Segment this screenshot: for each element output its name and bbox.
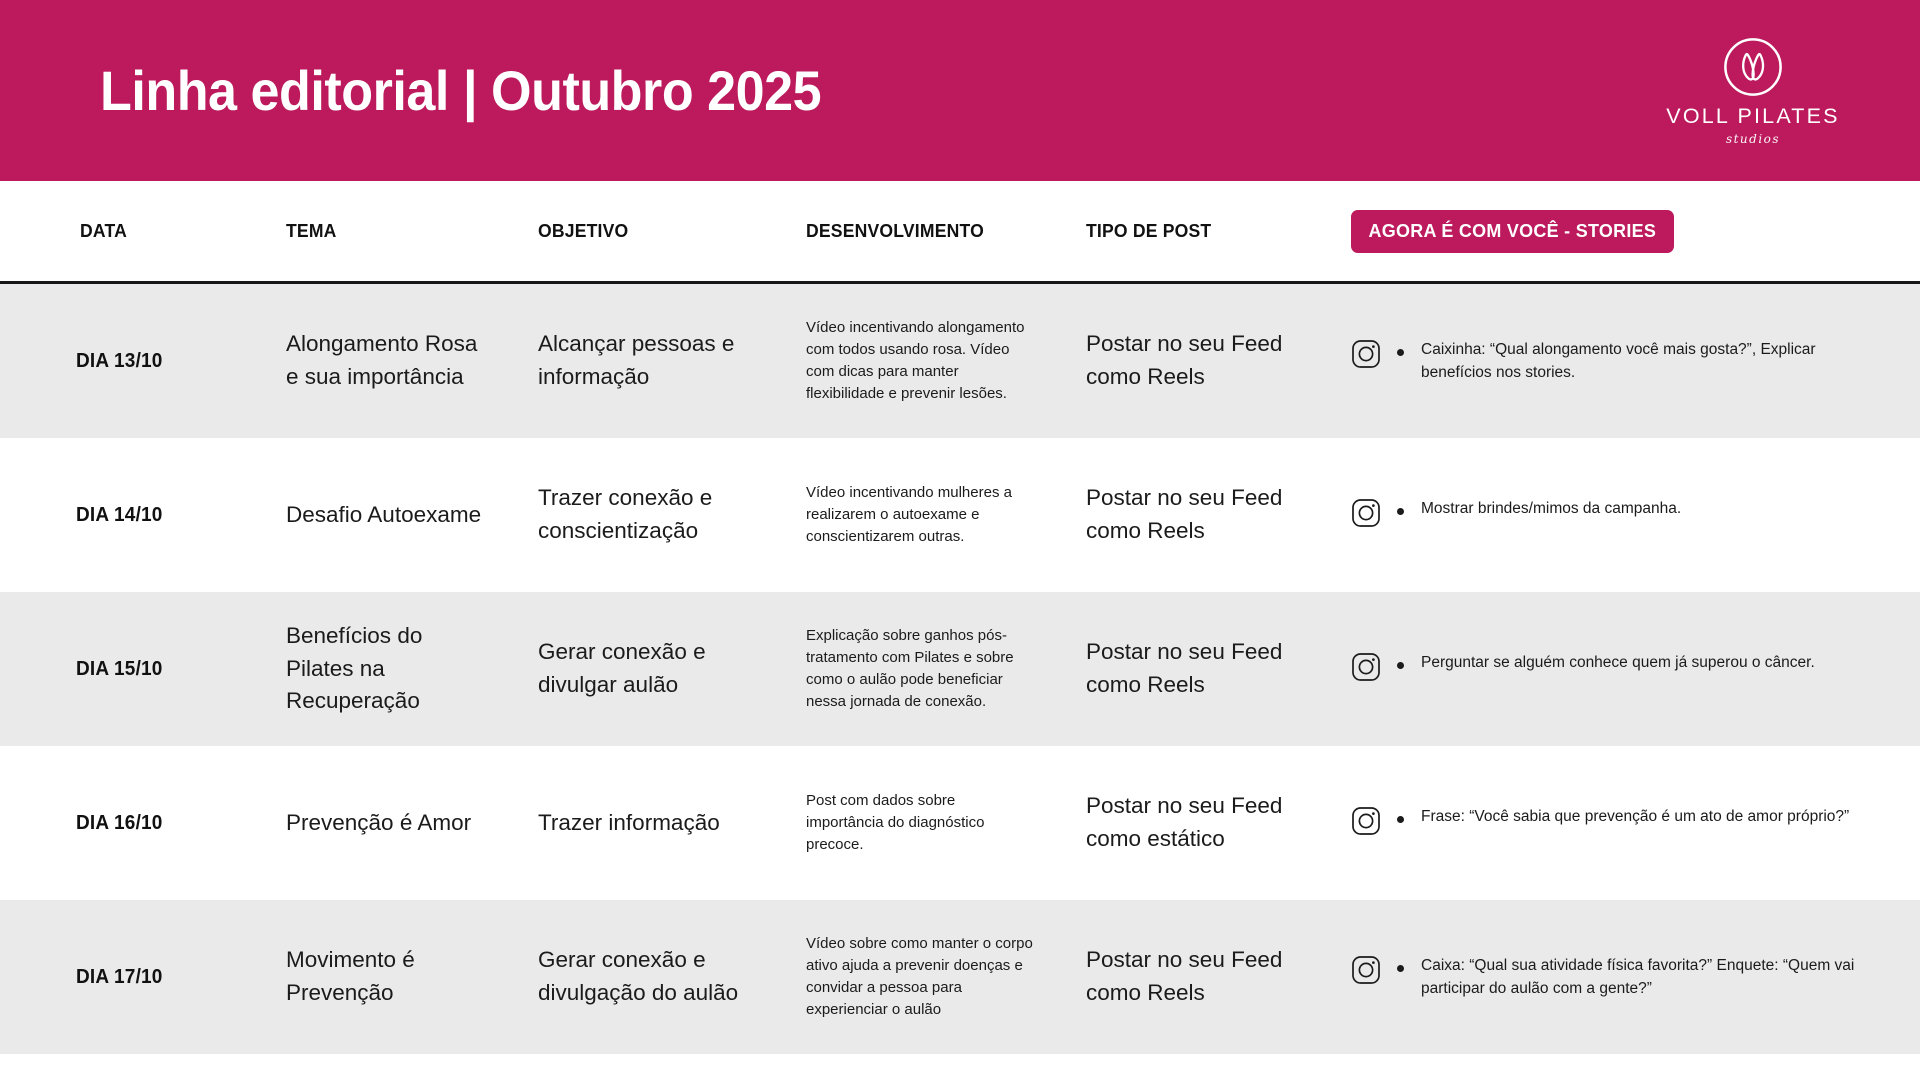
table-row: DIA 15/10 Benefícios do Pilates na Recup… bbox=[0, 592, 1920, 746]
cell-tipo-de-post: Postar no seu Feed como Reels bbox=[1070, 284, 1335, 438]
cell-tipo-de-post: Postar no seu Feed como Reels bbox=[1070, 900, 1335, 1054]
cell-desenvolvimento: Explicação sobre ganhos pós-tratamento c… bbox=[790, 592, 1070, 746]
row-date: DIA 13/10 bbox=[0, 350, 163, 373]
column-header-desenvolvimento-label: DESENVOLVIMENTO bbox=[806, 220, 984, 242]
instagram-icon bbox=[1351, 954, 1381, 990]
page-title: Linha editorial | Outubro 2025 bbox=[100, 63, 821, 119]
stories-content: Caixinha: “Qual alongamento você mais go… bbox=[1335, 338, 1920, 385]
instagram-icon bbox=[1351, 805, 1381, 841]
instagram-icon bbox=[1351, 338, 1381, 374]
cell-objetivo: Alcançar pessoas e informação bbox=[520, 284, 790, 438]
column-header-objetivo-label: OBJETIVO bbox=[538, 220, 628, 242]
stories-text: Mostrar brindes/mimos da campanha. bbox=[1421, 497, 1681, 520]
row-date: DIA 16/10 bbox=[0, 812, 163, 835]
instagram-icon bbox=[1351, 497, 1381, 533]
column-header-tipo-de-post: TIPO DE POST bbox=[1070, 181, 1335, 281]
cell-data: DIA 15/10 bbox=[0, 592, 268, 746]
instagram-icon bbox=[1351, 651, 1381, 687]
column-header-data-label: DATA bbox=[80, 220, 127, 242]
table-row: DIA 16/10 Prevenção é Amor Trazer inform… bbox=[0, 746, 1920, 900]
cell-desenvolvimento: Vídeo incentivando alongamento com todos… bbox=[790, 284, 1070, 438]
cell-tipo-de-post: Postar no seu Feed como estático bbox=[1070, 746, 1335, 900]
cell-data: DIA 16/10 bbox=[0, 746, 268, 900]
table-body: DIA 13/10 Alongamento Rosa e sua importâ… bbox=[0, 284, 1920, 1054]
table-row: DIA 13/10 Alongamento Rosa e sua importâ… bbox=[0, 284, 1920, 438]
stories-badge: AGORA É COM VOCÊ - STORIES bbox=[1351, 210, 1674, 253]
logo-wordmark: VOLL PILATES bbox=[1666, 104, 1839, 129]
cell-data: DIA 14/10 bbox=[0, 438, 268, 592]
row-date: DIA 14/10 bbox=[0, 504, 163, 527]
stories-content: Perguntar se alguém conhece quem já supe… bbox=[1335, 651, 1920, 687]
cell-tipo-de-post: Postar no seu Feed como Reels bbox=[1070, 438, 1335, 592]
column-header-objetivo: OBJETIVO bbox=[520, 181, 790, 281]
cell-desenvolvimento: Post com dados sobre importância do diag… bbox=[790, 746, 1070, 900]
bullet-icon bbox=[1397, 816, 1404, 823]
editorial-table: DATA TEMA OBJETIVO DESENVOLVIMENTO TIPO … bbox=[0, 181, 1920, 1054]
brand-logo: VOLL PILATES studios bbox=[1648, 36, 1858, 146]
bullet-icon bbox=[1397, 508, 1404, 515]
header-row: DATA TEMA OBJETIVO DESENVOLVIMENTO TIPO … bbox=[0, 181, 1920, 281]
stories-text: Caixinha: “Qual alongamento você mais go… bbox=[1421, 338, 1874, 385]
voll-pilates-wings-icon bbox=[1722, 36, 1784, 98]
column-header-tipo-de-post-label: TIPO DE POST bbox=[1086, 220, 1211, 242]
cell-tema: Movimento é Prevenção bbox=[268, 900, 520, 1054]
bullet-icon bbox=[1397, 349, 1404, 356]
cell-tema: Desafio Autoexame bbox=[268, 438, 520, 592]
cell-data: DIA 17/10 bbox=[0, 900, 268, 1054]
stories-text: Caixa: “Qual sua atividade física favori… bbox=[1421, 954, 1874, 1001]
cell-data: DIA 13/10 bbox=[0, 284, 268, 438]
cell-desenvolvimento: Vídeo incentivando mulheres a realizarem… bbox=[790, 438, 1070, 592]
cell-tema: Benefícios do Pilates na Recuperação bbox=[268, 592, 520, 746]
bullet-icon bbox=[1397, 662, 1404, 669]
column-header-stories: AGORA É COM VOCÊ - STORIES bbox=[1335, 181, 1920, 281]
table-row: DIA 17/10 Movimento é Prevenção Gerar co… bbox=[0, 900, 1920, 1054]
cell-objetivo: Gerar conexão e divulgar aulão bbox=[520, 592, 790, 746]
column-header-desenvolvimento: DESENVOLVIMENTO bbox=[790, 181, 1070, 281]
page-banner: Linha editorial | Outubro 2025 VOLL PILA… bbox=[0, 0, 1920, 181]
table-header: DATA TEMA OBJETIVO DESENVOLVIMENTO TIPO … bbox=[0, 181, 1920, 284]
cell-stories: Caixa: “Qual sua atividade física favori… bbox=[1335, 900, 1920, 1054]
column-header-data: DATA bbox=[0, 181, 268, 281]
cell-stories: Perguntar se alguém conhece quem já supe… bbox=[1335, 592, 1920, 746]
cell-stories: Caixinha: “Qual alongamento você mais go… bbox=[1335, 284, 1920, 438]
stories-content: Frase: “Você sabia que prevenção é um at… bbox=[1335, 805, 1920, 841]
column-header-tema: TEMA bbox=[268, 181, 520, 281]
stories-content: Mostrar brindes/mimos da campanha. bbox=[1335, 497, 1920, 533]
cell-objetivo: Gerar conexão e divulgação do aulão bbox=[520, 900, 790, 1054]
stories-text: Perguntar se alguém conhece quem já supe… bbox=[1421, 651, 1815, 674]
cell-tema: Alongamento Rosa e sua importância bbox=[268, 284, 520, 438]
cell-objetivo: Trazer informação bbox=[520, 746, 790, 900]
cell-desenvolvimento: Vídeo sobre como manter o corpo ativo aj… bbox=[790, 900, 1070, 1054]
cell-stories: Mostrar brindes/mimos da campanha. bbox=[1335, 438, 1920, 592]
logo-subtext: studios bbox=[1726, 132, 1780, 146]
editorial-calendar: DATA TEMA OBJETIVO DESENVOLVIMENTO TIPO … bbox=[0, 181, 1920, 1054]
cell-objetivo: Trazer conexão e conscientização bbox=[520, 438, 790, 592]
bullet-icon bbox=[1397, 965, 1404, 972]
table-row: DIA 14/10 Desafio Autoexame Trazer conex… bbox=[0, 438, 1920, 592]
cell-tipo-de-post: Postar no seu Feed como Reels bbox=[1070, 592, 1335, 746]
stories-content: Caixa: “Qual sua atividade física favori… bbox=[1335, 954, 1920, 1001]
column-header-tema-label: TEMA bbox=[286, 220, 337, 242]
row-date: DIA 15/10 bbox=[0, 658, 163, 681]
row-date: DIA 17/10 bbox=[0, 966, 163, 989]
cell-stories: Frase: “Você sabia que prevenção é um at… bbox=[1335, 746, 1920, 900]
stories-text: Frase: “Você sabia que prevenção é um at… bbox=[1421, 805, 1849, 828]
cell-tema: Prevenção é Amor bbox=[268, 746, 520, 900]
